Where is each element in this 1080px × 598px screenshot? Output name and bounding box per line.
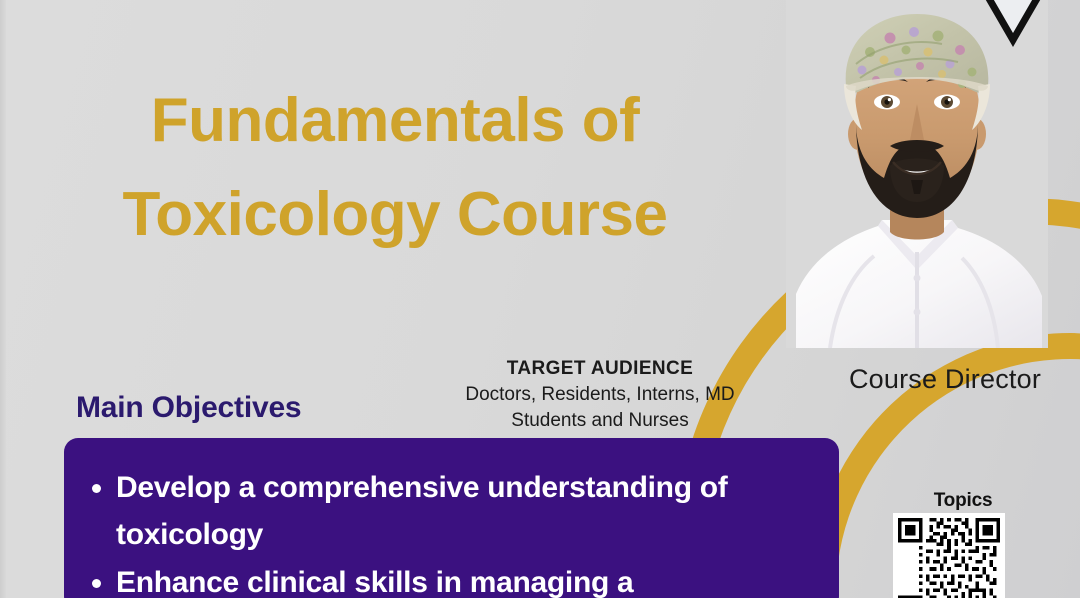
topics-qr-code[interactable]: [893, 513, 1005, 598]
page-title-line-2: Toxicology Course: [0, 168, 790, 262]
target-audience-line-1: Doctors, Residents, Interns, MD: [398, 382, 802, 408]
target-audience-title: TARGET AUDIENCE: [398, 356, 802, 382]
target-audience-body: Doctors, Residents, Interns, MD Students…: [398, 382, 802, 434]
topics-label: Topics: [898, 490, 1028, 512]
list-item: Develop a comprehensive understanding of…: [116, 464, 813, 558]
course-director-label: Course Director: [812, 362, 1078, 396]
page-title-line-1: Fundamentals of: [0, 74, 790, 168]
target-audience-block: TARGET AUDIENCE Doctors, Residents, Inte…: [398, 356, 802, 434]
page-title: Fundamentals of Toxicology Course: [0, 74, 790, 262]
list-item: Enhance clinical skills in managing a: [116, 559, 813, 598]
main-objectives-heading: Main Objectives: [76, 391, 301, 425]
poster-canvas: Fundamentals of Toxicology Course: [0, 0, 1080, 598]
target-audience-line-2: Students and Nurses: [398, 408, 802, 434]
main-objectives-panel: Develop a comprehensive understanding of…: [64, 438, 839, 598]
objectives-list: Develop a comprehensive understanding of…: [86, 464, 813, 598]
corner-logo-icon: [946, 0, 1080, 54]
